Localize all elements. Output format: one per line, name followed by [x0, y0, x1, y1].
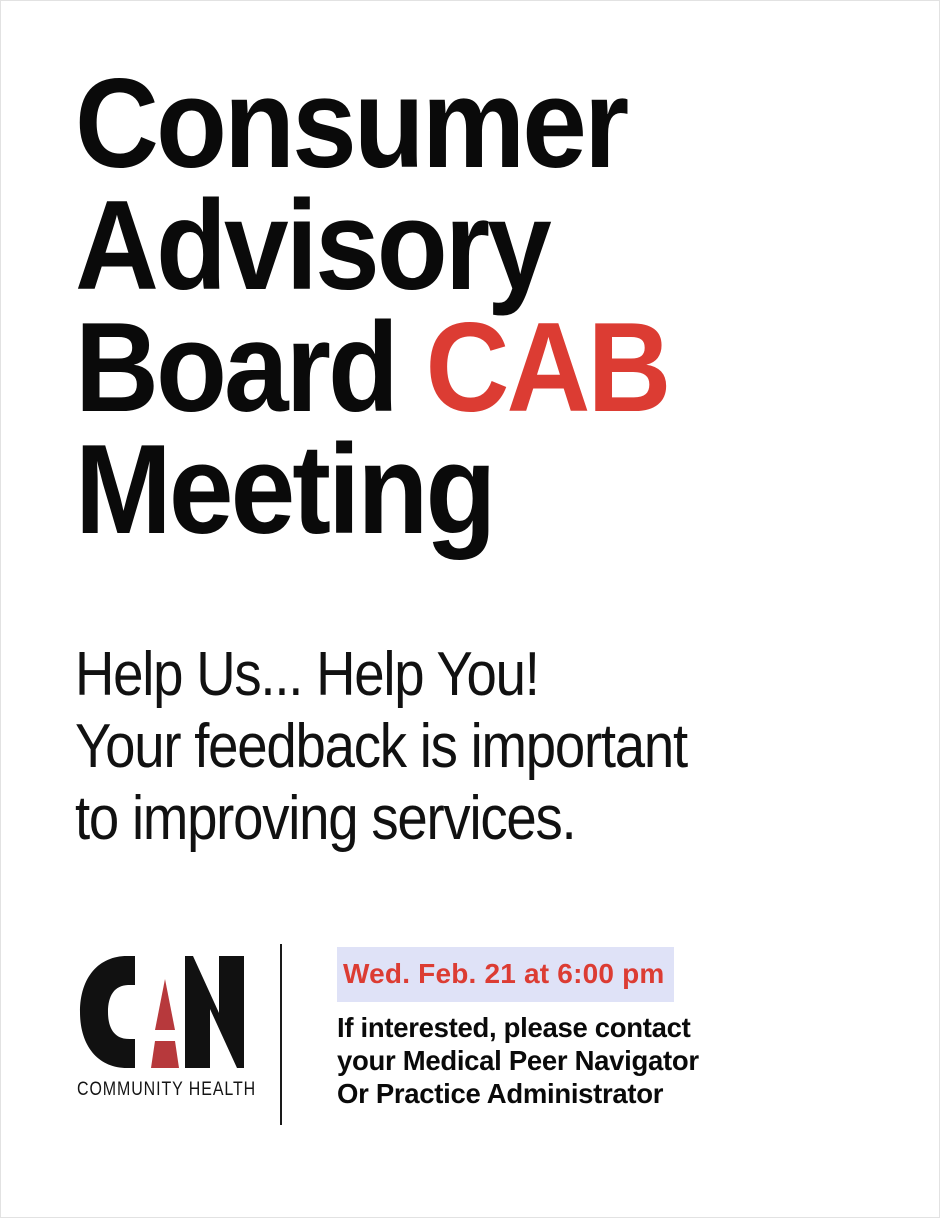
contact-line-2: your Medical Peer Navigator	[337, 1044, 837, 1077]
subtitle-line-3: to improving services.	[75, 783, 832, 855]
logo-tagline: COMMUNITY HEALTH	[77, 1079, 225, 1101]
can-logo-mark	[77, 953, 247, 1071]
vertical-divider	[280, 944, 282, 1125]
subtitle-line-1: Help Us... Help You!	[75, 639, 832, 711]
footer-band: COMMUNITY HEALTH Wed. Feb. 21 at 6:00 pm…	[1, 931, 940, 1141]
page-title: Consumer Advisory Board CAB Meeting	[75, 63, 816, 551]
headline-acronym-cab: CAB	[425, 296, 668, 438]
event-info-column: Wed. Feb. 21 at 6:00 pm If interested, p…	[337, 947, 837, 1110]
contact-instructions: If interested, please contact your Medic…	[337, 1011, 837, 1110]
headline-line-3: Board CAB	[75, 307, 816, 429]
event-date-badge: Wed. Feb. 21 at 6:00 pm	[337, 947, 674, 1002]
headline-line-2: Advisory	[75, 185, 816, 307]
headline-line-3-prefix: Board	[75, 296, 425, 438]
contact-line-3: Or Practice Administrator	[337, 1077, 837, 1110]
subtitle-line-2: Your feedback is important	[75, 711, 832, 783]
flyer-page: Consumer Advisory Board CAB Meeting Help…	[0, 0, 940, 1218]
page-subtitle: Help Us... Help You! Your feedback is im…	[75, 639, 832, 855]
headline-line-1: Consumer	[75, 63, 816, 185]
can-community-health-logo: COMMUNITY HEALTH	[77, 953, 253, 1101]
contact-line-1: If interested, please contact	[337, 1011, 837, 1044]
headline-line-4: Meeting	[75, 429, 816, 551]
